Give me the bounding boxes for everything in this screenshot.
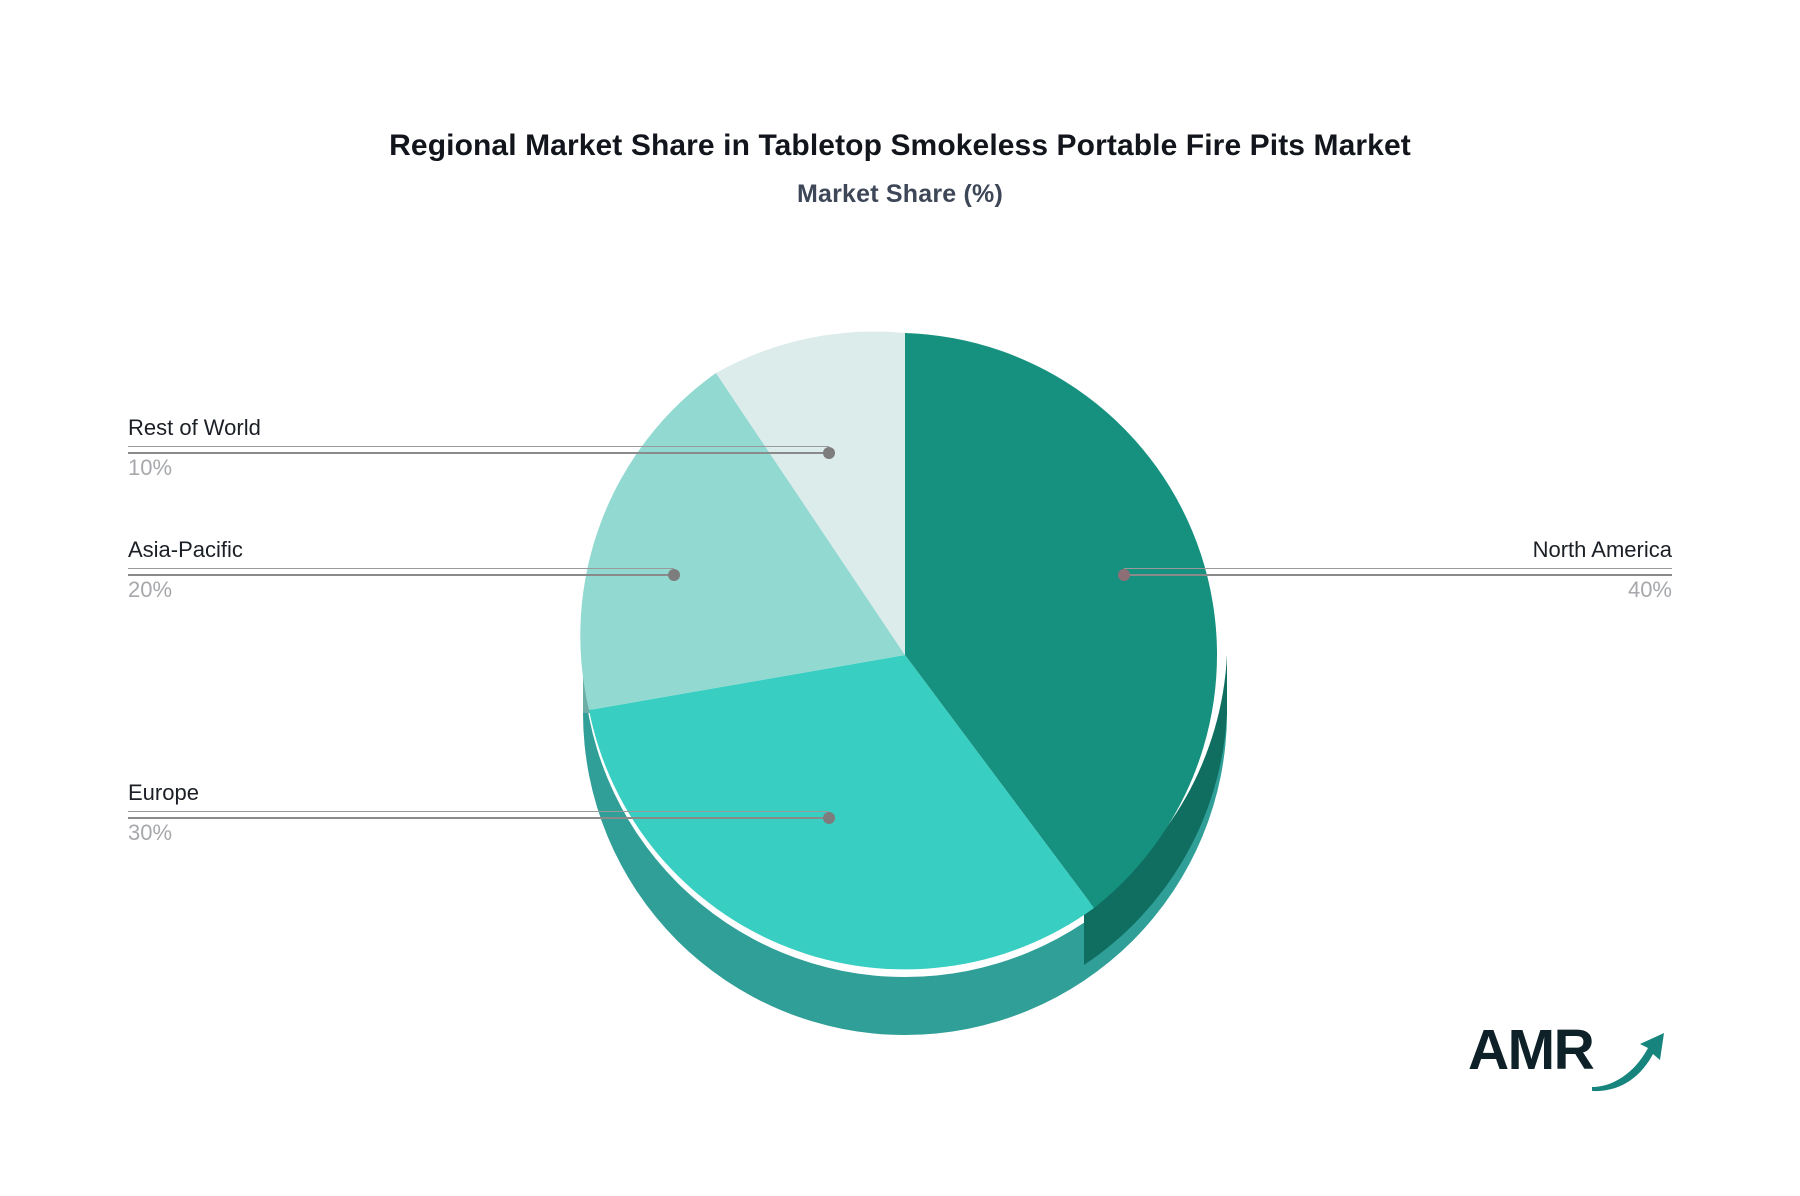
- amr-logo: AMR: [1468, 1020, 1658, 1100]
- growth-arrow-icon: [1590, 1030, 1670, 1092]
- callout-asia-pacific: Asia-Pacific 20%: [128, 538, 674, 601]
- callout-label-north-america: North America: [1124, 538, 1672, 568]
- chart-canvas: Regional Market Share in Tabletop Smokel…: [0, 0, 1800, 1196]
- callout-europe: Europe 30%: [128, 781, 829, 844]
- callout-north-america: North America 40%: [1124, 538, 1672, 601]
- callout-rest-of-world: Rest of World 10%: [128, 416, 829, 479]
- callout-value-north-america: 40%: [1124, 569, 1672, 601]
- callout-value-europe: 30%: [128, 812, 829, 844]
- callout-label-europe: Europe: [128, 781, 829, 811]
- callout-value-asia-pacific: 20%: [128, 569, 674, 601]
- callout-value-rest-of-world: 10%: [128, 447, 829, 479]
- callout-label-asia-pacific: Asia-Pacific: [128, 538, 674, 568]
- callout-label-rest-of-world: Rest of World: [128, 416, 829, 446]
- amr-logo-text: AMR: [1468, 1022, 1593, 1079]
